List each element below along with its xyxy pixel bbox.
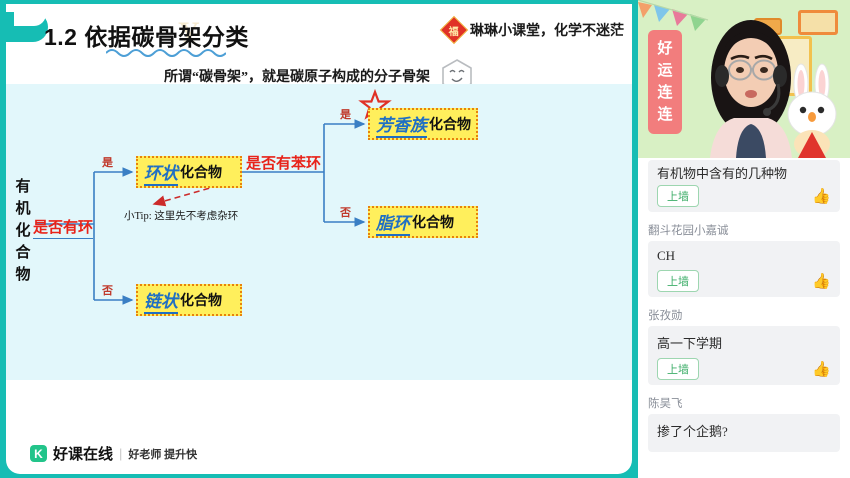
node-chain-compound[interactable]: 链状 化合物 bbox=[136, 284, 242, 316]
branch-yes-1: 是 bbox=[102, 154, 113, 170]
chat-message: 有机物中含有的几种物 上墙 👍 bbox=[648, 160, 840, 212]
node-alicyclic-hand: 脂环 bbox=[376, 209, 410, 236]
node-cyclic-compound[interactable]: 环状 化合物 bbox=[136, 156, 242, 188]
chat-message: 张孜勋 高一下学期 上墙 👍 bbox=[648, 307, 840, 385]
k-logo-icon: K bbox=[30, 445, 47, 462]
thumbs-up-icon[interactable]: 👍 bbox=[812, 362, 831, 377]
node-aromatic-tail: 化合物 bbox=[429, 114, 471, 134]
node-aromatic-hand: 芳香族 bbox=[376, 111, 427, 138]
thumbs-up-icon[interactable]: 👍 bbox=[812, 189, 831, 204]
question-has-ring: 是否有环 bbox=[33, 216, 93, 239]
chat-text: 高一下学期 bbox=[657, 333, 831, 352]
thumbs-up-icon[interactable]: 👍 bbox=[812, 274, 831, 289]
banner-char-1: 好 bbox=[657, 38, 672, 60]
slide-footer: K 好课在线 | 好老师 提升快 bbox=[6, 443, 632, 464]
node-alicyclic-tail: 化合物 bbox=[412, 212, 454, 232]
node-alicyclic-compound[interactable]: 脂环 化合物 bbox=[368, 206, 478, 238]
chat-actions: 上墙 👍 bbox=[657, 185, 831, 207]
chat-username: 张孜勋 bbox=[648, 307, 840, 323]
slide-content: Y 1.2 依据碳骨架分类 福 琳琳小课堂，化学不迷茫 所谓“碳骨架”，就是碳原… bbox=[6, 4, 632, 474]
slide-header: Y 1.2 依据碳骨架分类 福 琳琳小课堂，化学不迷茫 bbox=[6, 10, 632, 58]
lucky-banner: 好 运 连 连 bbox=[648, 30, 682, 134]
teacher-video-panel[interactable]: 好 运 连 连 bbox=[638, 0, 850, 158]
chat-bubble: 高一下学期 上墙 👍 bbox=[648, 326, 840, 385]
wall-picture-large bbox=[798, 10, 838, 35]
branch-no-1: 否 bbox=[102, 282, 113, 298]
teacher-avatar bbox=[704, 14, 798, 158]
chat-bubble: CH 上墙 👍 bbox=[648, 241, 840, 297]
footer-slogan-label: 好老师 提升快 bbox=[128, 446, 197, 462]
chat-actions: 上墙 👍 bbox=[657, 358, 831, 380]
chat-username: 翻斗花园小嘉诚 bbox=[648, 222, 840, 238]
brand-tag-label: 琳琳小课堂，化学不迷茫 bbox=[470, 20, 624, 40]
root-label: 有机化合物 bbox=[12, 176, 34, 286]
node-chain-hand: 链状 bbox=[144, 287, 178, 314]
chat-text: 有机物中含有的几种物 bbox=[657, 167, 831, 179]
branch-yes-2: 是 bbox=[340, 106, 351, 122]
fu-char: 福 bbox=[449, 23, 459, 38]
chat-message: 陈昊飞 掺了个企鹅? bbox=[648, 395, 840, 452]
node-cyclic-tail: 化合物 bbox=[180, 162, 222, 182]
pin-to-wall-button[interactable]: 上墙 bbox=[657, 358, 699, 380]
brand-tag: 福 琳琳小课堂，化学不迷茫 bbox=[444, 20, 624, 40]
footer-divider: | bbox=[119, 446, 122, 461]
slide-region: Y 1.2 依据碳骨架分类 福 琳琳小课堂，化学不迷茫 所谓“碳骨架”，就是碳原… bbox=[0, 0, 638, 478]
banner-char-2: 运 bbox=[657, 60, 672, 82]
title-underline-squiggle bbox=[106, 47, 226, 57]
pin-to-wall-button[interactable]: 上墙 bbox=[657, 270, 699, 292]
subtitle-label: 所谓“碳骨架”，就是碳原子构成的分子骨架 bbox=[164, 66, 430, 86]
fu-diamond-icon: 福 bbox=[440, 16, 468, 44]
chat-panel[interactable]: 有机物中含有的几种物 上墙 👍 翻斗花园小嘉诚 CH 上墙 👍 张孜勋 高一下学… bbox=[638, 158, 850, 478]
node-aromatic-compound[interactable]: 芳香族 化合物 bbox=[368, 108, 478, 140]
banner-char-4: 连 bbox=[657, 104, 672, 126]
diagram-connectors bbox=[6, 84, 632, 380]
chat-text: CH bbox=[657, 248, 831, 264]
footer-brand-label: 好课在线 bbox=[53, 443, 113, 464]
chat-bubble: 有机物中含有的几种物 上墙 👍 bbox=[648, 160, 840, 212]
chat-actions: 上墙 👍 bbox=[657, 270, 831, 292]
branch-no-2: 否 bbox=[340, 204, 351, 220]
chat-bubble: 掺了个企鹅? bbox=[648, 414, 840, 452]
chat-username: 陈昊飞 bbox=[648, 395, 840, 411]
node-cyclic-hand: 环状 bbox=[144, 159, 178, 186]
node-chain-tail: 化合物 bbox=[180, 290, 222, 310]
diagram-canvas: 有机化合物 是否有环 是否有苯环 是 否 是 否 环状 化合物 链状 化合物 芳… bbox=[6, 84, 632, 380]
chat-message: 翻斗花园小嘉诚 CH 上墙 👍 bbox=[648, 222, 840, 297]
pin-to-wall-button[interactable]: 上墙 bbox=[657, 185, 699, 207]
chat-text: 掺了个企鹅? bbox=[657, 421, 831, 440]
question-has-benzene: 是否有苯环 bbox=[246, 152, 321, 173]
tip-note: 小Tip: 这里先不考虑杂环 bbox=[124, 208, 238, 223]
banner-char-3: 连 bbox=[657, 82, 672, 104]
